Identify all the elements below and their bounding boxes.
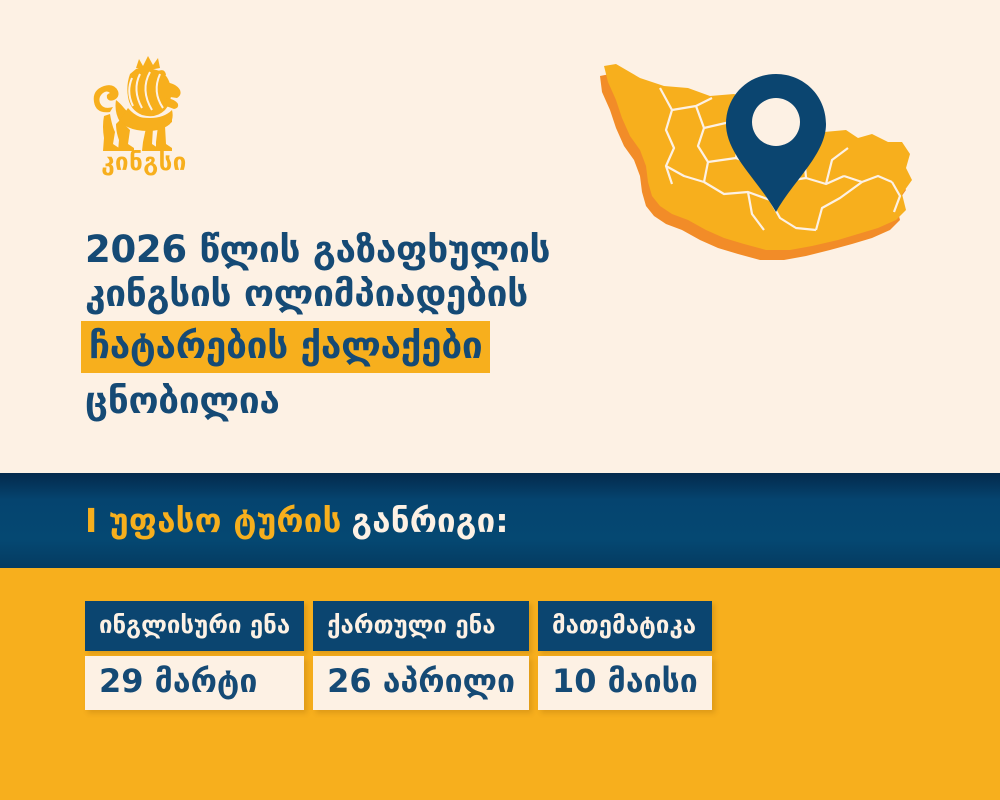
section-banner: I უფასო ტურისგანრიგი: [0, 473, 1000, 568]
page-title: 2026 წლის გაზაფხულის კინგსის ოლიმპიადები… [85, 228, 725, 423]
banner-rest-text: განრიგი: [352, 501, 509, 540]
brand-logo: კინგსი [80, 52, 210, 182]
schedule-date: 10 მაისი [538, 656, 712, 710]
schedule-card: ინგლისური ენა 29 მარტი [85, 601, 304, 710]
headline-line-2: კინგსის ოლიმპიადების [85, 272, 725, 316]
schedule-card-list: ინგლისური ენა 29 მარტი ქართული ენა 26 აპ… [85, 601, 712, 710]
headline-line-4: ცნობილია [85, 379, 725, 423]
schedule-section: ინგლისური ენა 29 მარტი ქართული ენა 26 აპ… [0, 568, 1000, 800]
schedule-subject: მათემატიკა [538, 601, 712, 651]
banner-heading: I უფასო ტურისგანრიგი: [85, 501, 509, 540]
poster-root: კინგსი [0, 0, 1000, 800]
crowned-lion-icon [86, 52, 198, 152]
headline-line-1: 2026 წლის გაზაფხულის [85, 228, 725, 272]
schedule-subject: ინგლისური ენა [85, 601, 304, 651]
banner-accent-text: I უფასო ტურის [85, 501, 342, 540]
top-section: კინგსი [0, 0, 1000, 473]
schedule-card: ქართული ენა 26 აპრილი [313, 601, 529, 710]
schedule-date: 26 აპრილი [313, 656, 529, 710]
schedule-card: მათემატიკა 10 მაისი [538, 601, 712, 710]
location-pin-icon [718, 68, 834, 218]
schedule-subject: ქართული ენა [313, 601, 529, 651]
schedule-date: 29 მარტი [85, 656, 304, 710]
logo-wordmark: კინგსი [80, 150, 208, 174]
headline-line-3-highlighted: ჩატარების ქალაქები [81, 321, 490, 373]
